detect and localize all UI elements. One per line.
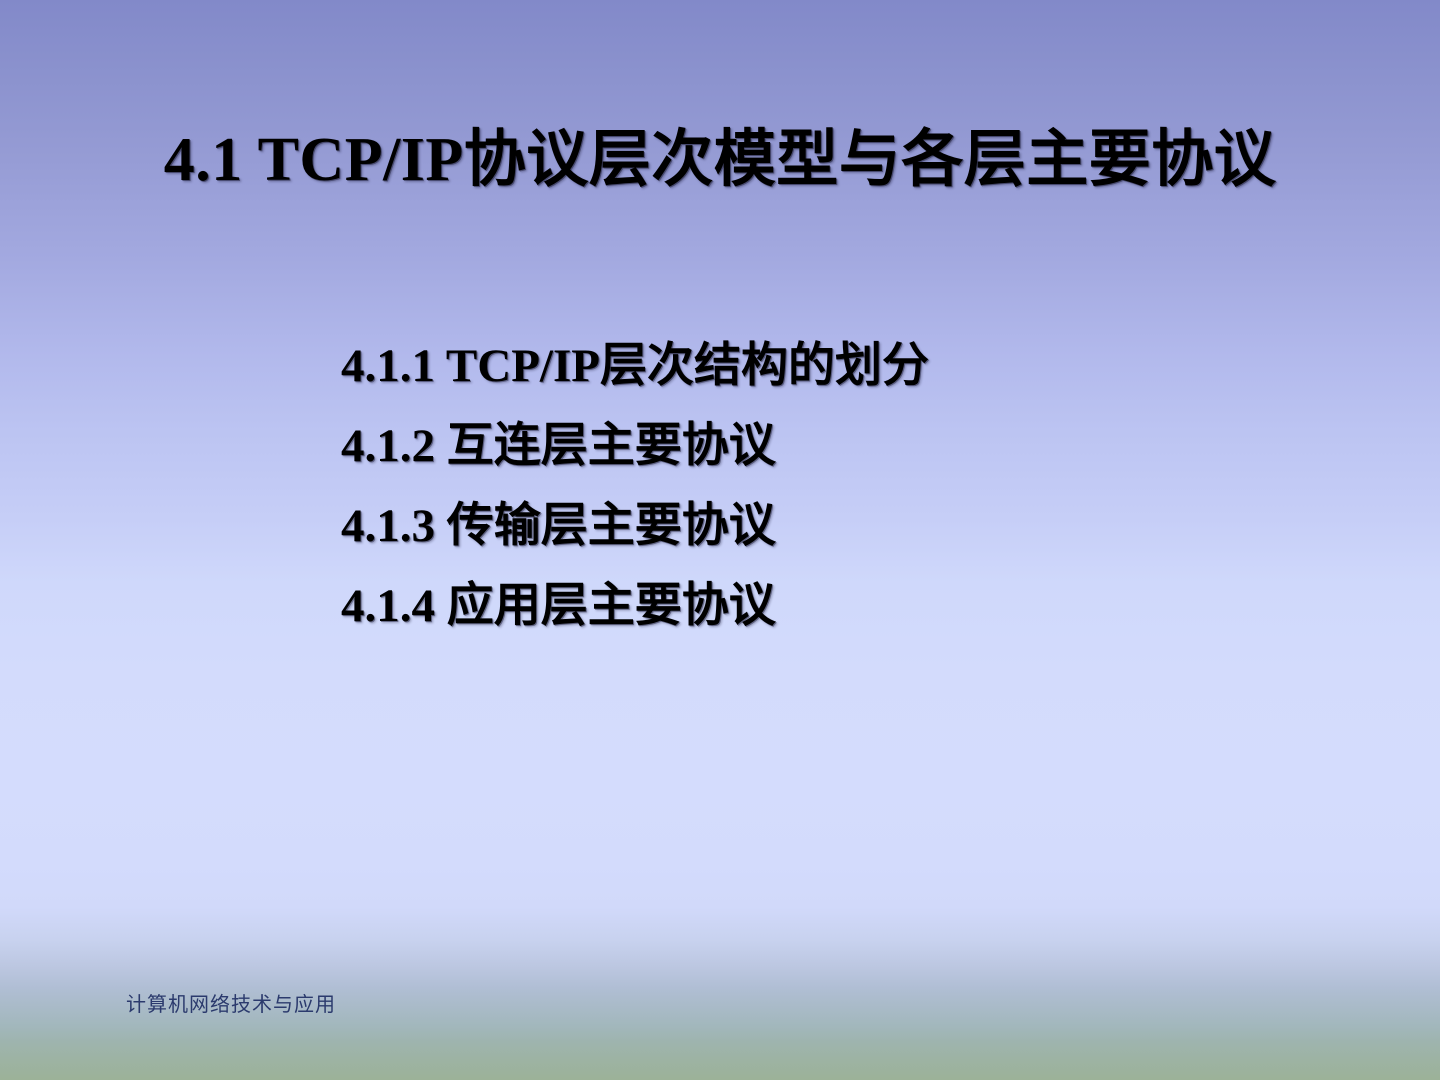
slide-canvas: 4.1 TCP/IP协议层次模型与各层主要协议 4.1.1 TCP/IP层次结构… xyxy=(0,0,1440,1080)
outline-item-4: 4.1.4 应用层主要协议 xyxy=(341,566,1341,646)
outline-item-3: 4.1.3 传输层主要协议 xyxy=(341,486,1341,566)
outline-item-2: 4.1.2 互连层主要协议 xyxy=(341,406,1341,486)
outline-list: 4.1.1 TCP/IP层次结构的划分 4.1.2 互连层主要协议 4.1.3 … xyxy=(341,326,1341,646)
slide-title: 4.1 TCP/IP协议层次模型与各层主要协议 xyxy=(0,128,1440,193)
outline-item-1: 4.1.1 TCP/IP层次结构的划分 xyxy=(341,326,1341,406)
slide-title-text: 4.1 TCP/IP协议层次模型与各层主要协议 xyxy=(164,128,1277,193)
slide-footer: 计算机网络技术与应用 xyxy=(126,988,336,1017)
